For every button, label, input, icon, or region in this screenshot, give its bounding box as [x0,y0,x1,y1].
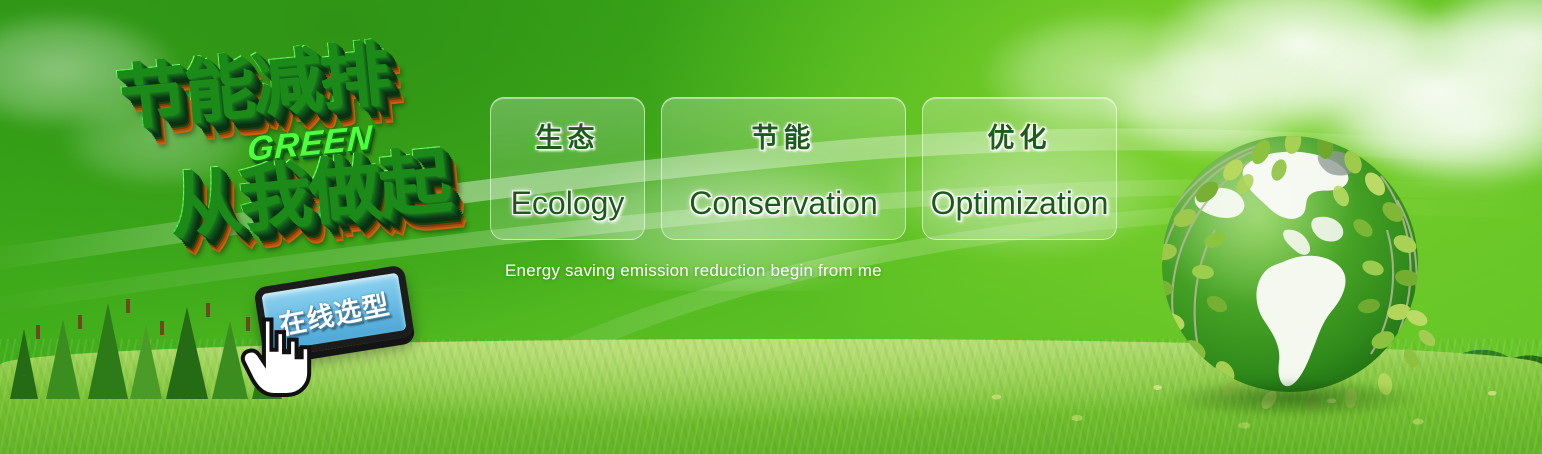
banner-subtitle: Energy saving emission reduction begin f… [505,261,882,281]
green-energy-banner: 节能减排 GREEN 从我做起 在线选型 生态 Ecology 节能 Conse… [0,0,1542,454]
card-title-en: Optimization [931,185,1109,222]
card-title-en: Ecology [511,185,625,222]
card-title-en: Conservation [689,185,878,222]
card-title-cn: 节能 [752,116,816,155]
headline-line-1-text: 节能减排 [112,37,389,133]
cloud-shape [1420,0,1542,100]
leafy-earth-globe-icon [1145,122,1435,412]
globe-svg [1145,122,1435,412]
feature-card-group: 生态 Ecology 节能 Conservation 优化 Optimizati… [490,97,1117,240]
card-title-cn: 生态 [536,116,600,155]
headline-3d-block-text: 节能减排 GREEN 从我做起 [98,22,498,287]
feature-card-ecology[interactable]: 生态 Ecology [490,97,645,240]
feature-card-optimization[interactable]: 优化 Optimization [922,97,1117,240]
cloud-shape [1150,0,1450,120]
hand-pointer-icon [238,312,320,400]
headline-line-1: 节能减排 [112,37,389,133]
feature-card-conservation[interactable]: 节能 Conservation [661,97,906,240]
card-title-cn: 优化 [988,116,1052,155]
globe-shadow [1163,378,1425,418]
headline-line-2-text: 从我做起 [165,144,451,243]
headline-line-2: 从我做起 [165,144,451,243]
